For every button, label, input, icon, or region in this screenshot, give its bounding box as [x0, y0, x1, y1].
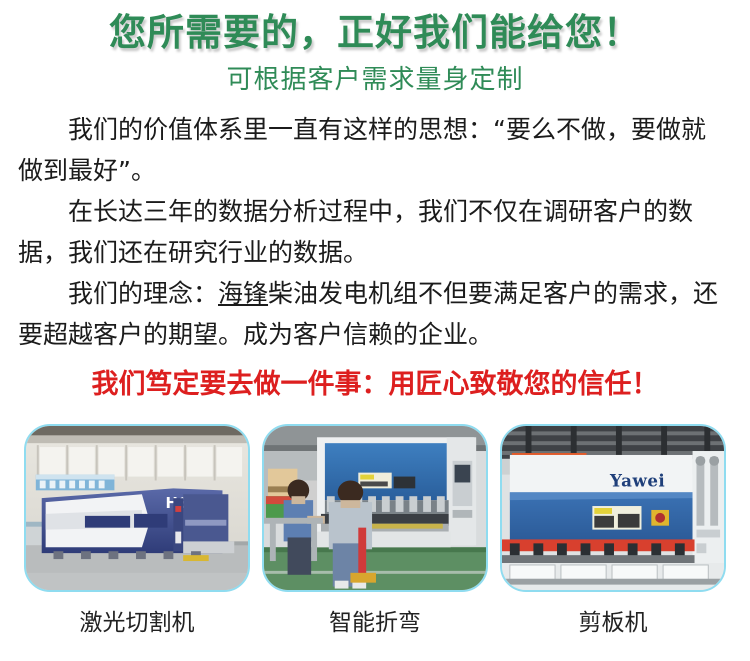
page-title: 您所需要的，正好我们能给您！	[0, 0, 750, 51]
gallery-item[interactable]: HSG 激光切割机	[24, 424, 250, 635]
brand-name: 海锋	[218, 279, 268, 308]
promo-page: 您所需要的，正好我们能给您！ 可根据客户需求量身定制 我们的价值体系里一直有这样…	[0, 0, 750, 661]
gallery-item[interactable]: Yawei	[500, 424, 726, 635]
paragraph-2: 在长达三年的数据分析过程中，我们不仅在调研客户的数据，我们还在研究行业的数据。	[18, 191, 730, 273]
svg-text:Yawei: Yawei	[609, 470, 665, 490]
slogan-text: 我们笃定要去做一件事：用匠心致敬您的信任！	[0, 355, 750, 398]
page-subtitle: 可根据客户需求量身定制	[0, 51, 750, 93]
laser-cutting-machine-photo: HSG	[24, 424, 250, 592]
gallery-item-caption: 激光切割机	[24, 592, 250, 635]
gallery-item-caption: 剪板机	[500, 592, 726, 635]
shearing-machine-photo: Yawei	[500, 424, 726, 592]
paragraph-3: 我们的理念：海锋柴油发电机组不但要满足客户的需求，还要超越客户的期望。成为客户信…	[18, 273, 730, 355]
paragraph-1: 我们的价值体系里一直有这样的思想：“要么不做，要做就做到最好”。	[18, 109, 730, 191]
machine-gallery: HSG 激光切割机	[0, 424, 750, 635]
press-brake-bending-machine-photo	[262, 424, 488, 592]
gallery-item[interactable]: 智能折弯	[262, 424, 488, 635]
paragraph-3-prefix: 我们的理念：	[68, 279, 218, 308]
body-copy: 我们的价值体系里一直有这样的思想：“要么不做，要做就做到最好”。 在长达三年的数…	[0, 93, 750, 355]
gallery-item-caption: 智能折弯	[262, 592, 488, 635]
